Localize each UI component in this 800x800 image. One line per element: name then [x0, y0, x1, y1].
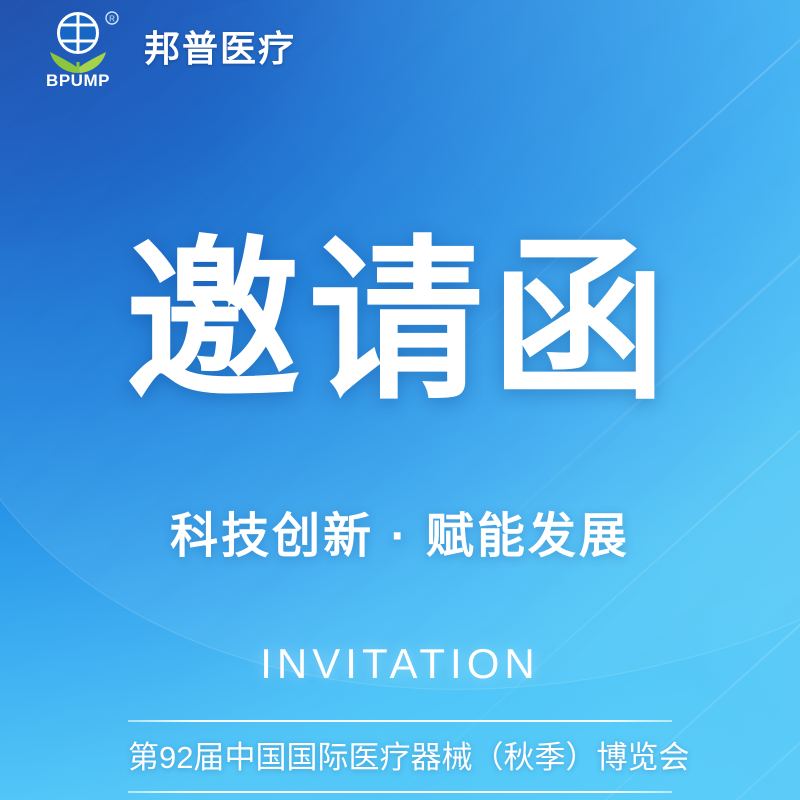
bpump-globe-leaf-logo-icon: R BPUMP	[40, 10, 122, 88]
svg-text:BPUMP: BPUMP	[46, 71, 110, 88]
divider-bottom	[128, 791, 672, 793]
headline-text: 邀请函	[126, 235, 675, 410]
invitation-english-label: INVITATION	[0, 643, 800, 685]
svg-text:R: R	[109, 15, 115, 24]
footer: 第92届中国国际医疗器械（秋季）博览会	[128, 720, 672, 793]
page-title: 邀请函	[0, 235, 800, 410]
brand-header: R BPUMP 邦普医疗	[40, 10, 296, 88]
brand-name-text: 邦普医疗	[144, 31, 296, 67]
invitation-poster: R BPUMP 邦普医疗 邀请函 科技创新 · 赋能发展 INVITATION …	[0, 0, 800, 800]
event-title-text: 第92届中国国际医疗器械（秋季）博览会	[128, 722, 672, 791]
subtitle-slogan: 科技创新 · 赋能发展	[0, 508, 800, 566]
